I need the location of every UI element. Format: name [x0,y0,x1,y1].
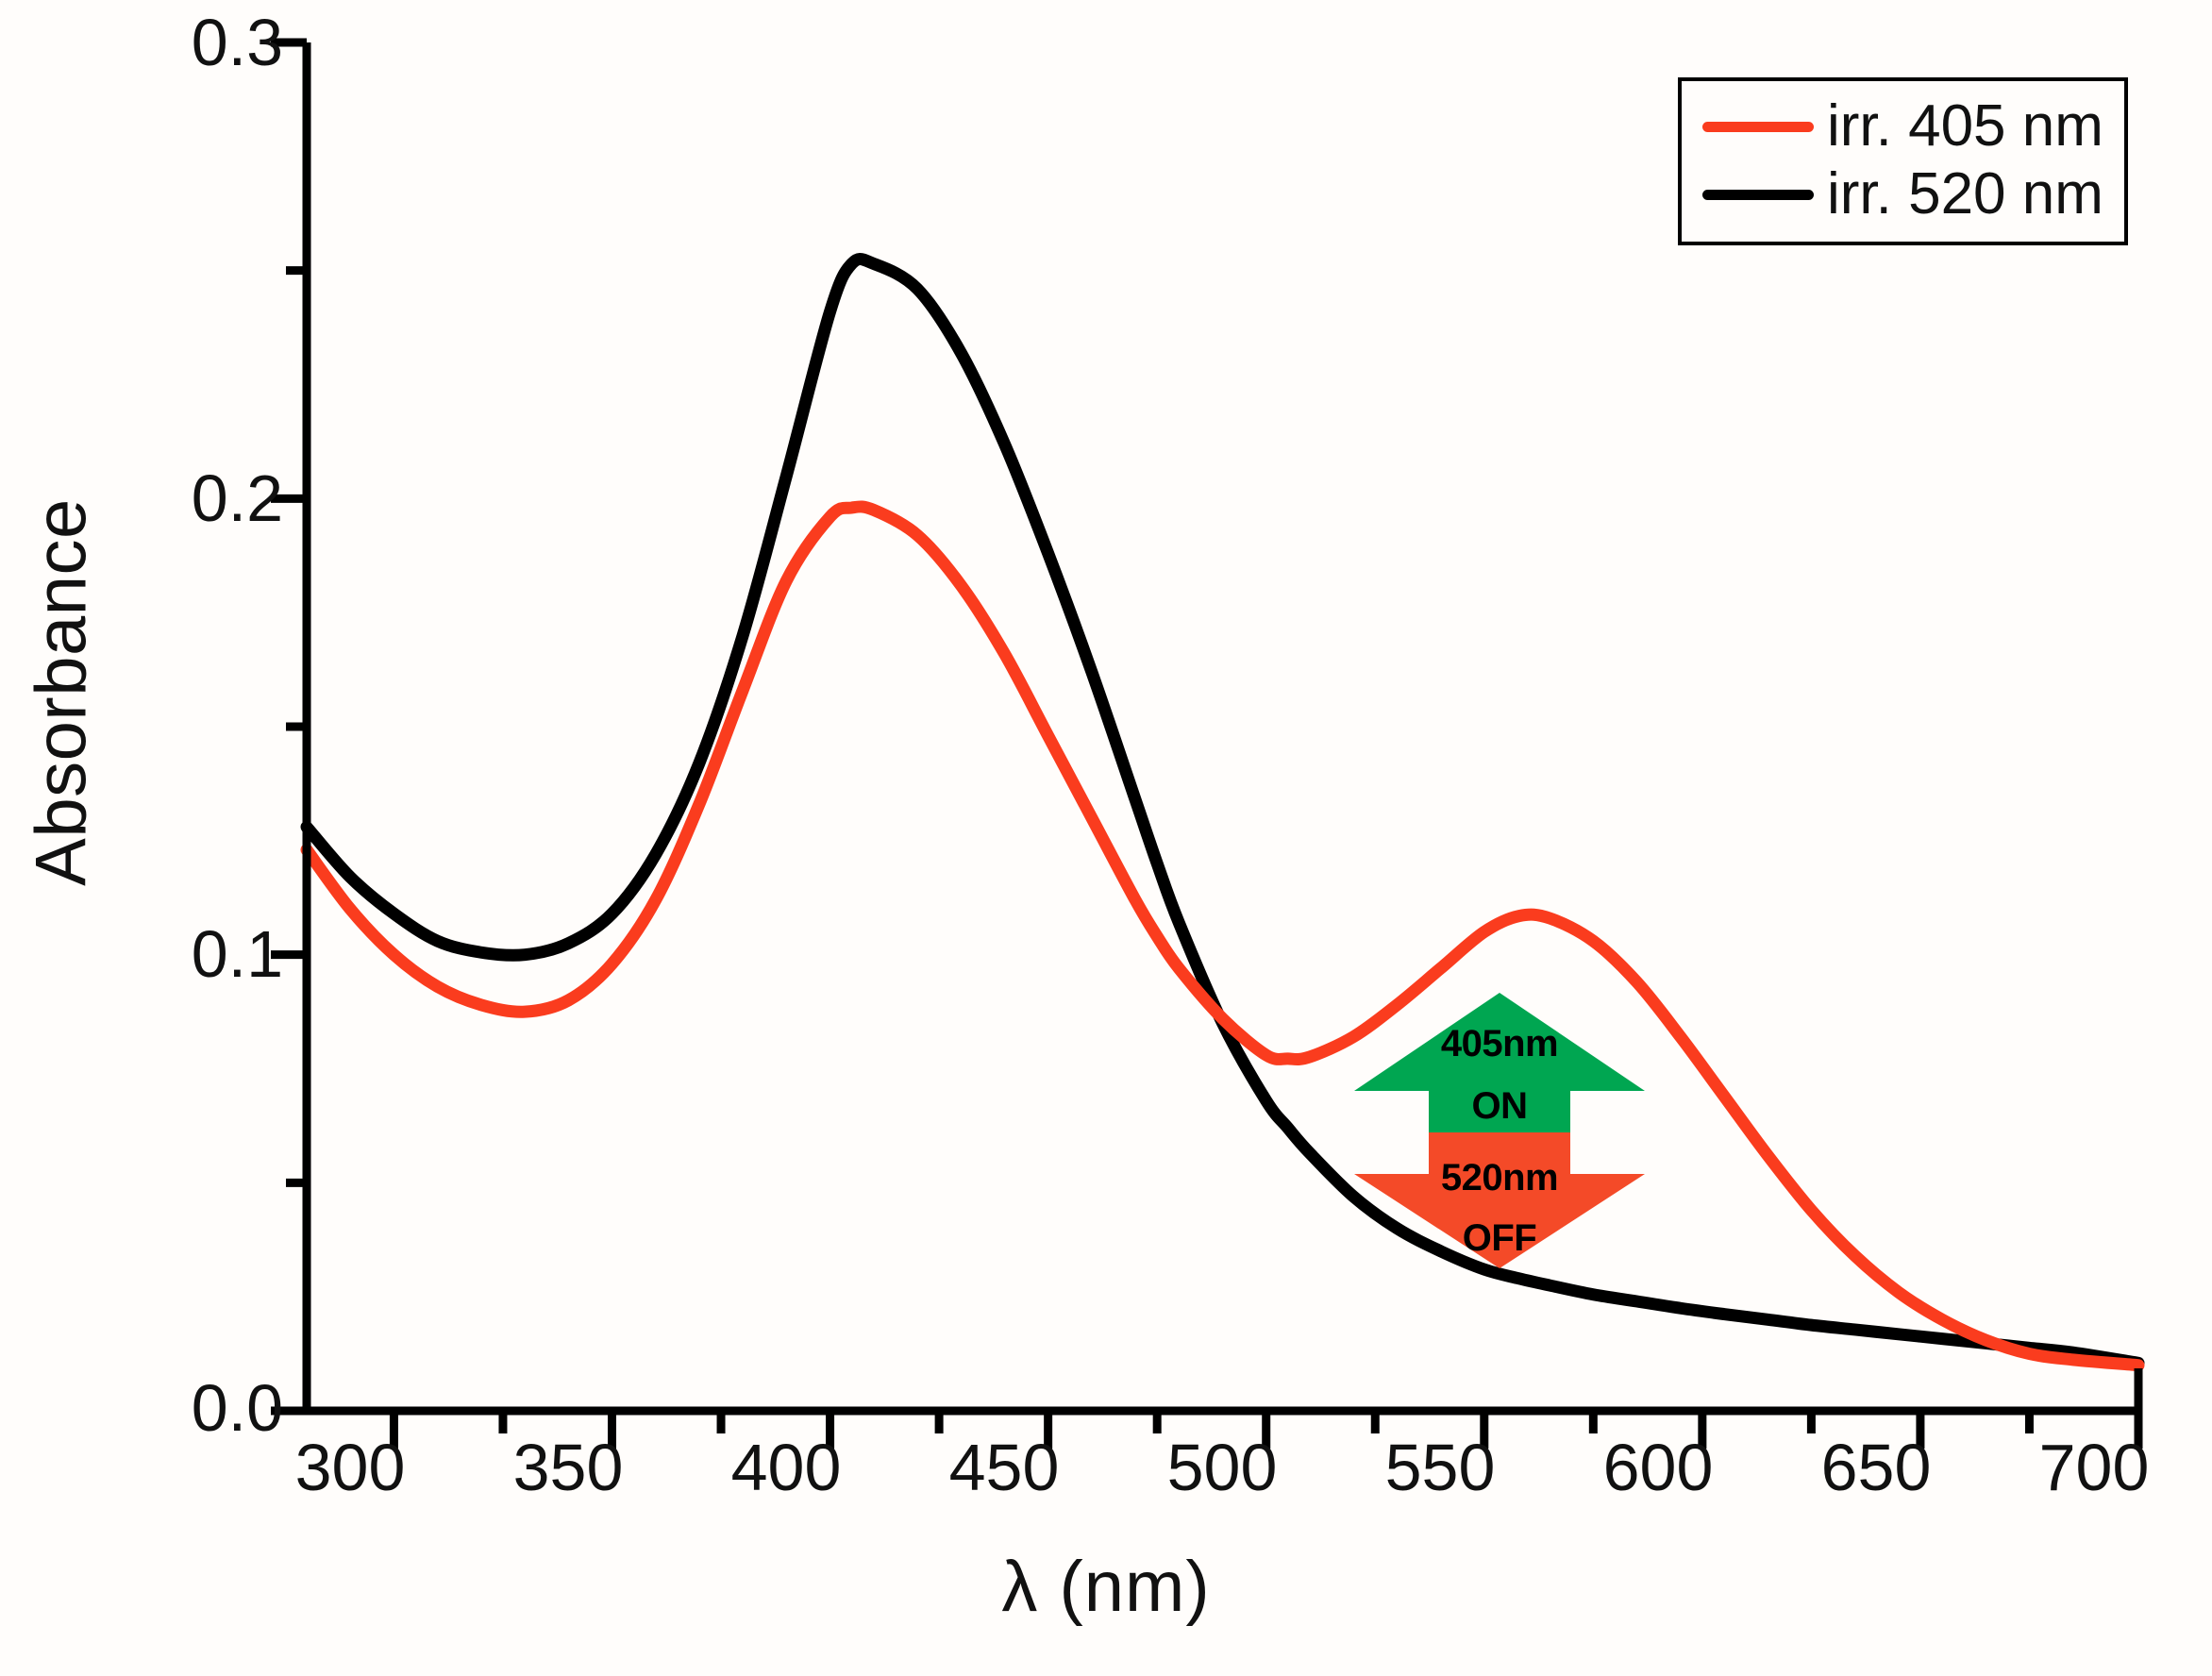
x-tick-label-700: 700 [1990,1430,2198,1505]
x-tick-label-450: 450 [900,1430,1108,1505]
arrow-down-red-half [1354,1132,1645,1268]
y-tick-label-2: 0.1 [94,916,283,992]
y-tick-label-1: 0.2 [94,461,283,536]
x-tick-label-650: 650 [1772,1430,1980,1505]
absorbance-spectrum-figure: 0.3 0.2 0.1 0.0 300 350 400 450 500 550 … [0,0,2212,1676]
x-tick-label-600: 600 [1554,1430,1762,1505]
y-axis-title: Absorbance [21,400,103,985]
legend-swatch-red [1702,122,1814,132]
photoswitch-arrow-annotation: 405nm ON 520nm OFF [1351,989,1648,1272]
x-axis-title: λ (nm) [0,1546,2212,1628]
legend-label-irr-520: irr. 520 nm [1827,165,2103,224]
x-tick-label-350: 350 [464,1430,672,1505]
y-axis-ticks [271,42,307,1411]
legend-swatch-black [1702,190,1814,200]
legend-entry-irr-405[interactable]: irr. 405 nm [1702,92,2103,160]
legend-entry-irr-520[interactable]: irr. 520 nm [1702,160,2103,228]
legend: irr. 405 nm irr. 520 nm [1678,77,2128,245]
x-tick-label-500: 500 [1118,1430,1326,1505]
arrow-up-green-half [1354,993,1645,1132]
x-tick-label-550: 550 [1336,1430,1544,1505]
x-tick-label-300: 300 [246,1430,454,1505]
double-arrow-icon [1351,989,1648,1272]
y-tick-label-0: 0.3 [94,5,283,80]
series-line-irr-520 [307,259,2138,1363]
plot-area [0,0,2212,1676]
x-tick-label-400: 400 [682,1430,890,1505]
legend-label-irr-405: irr. 405 nm [1827,97,2103,156]
